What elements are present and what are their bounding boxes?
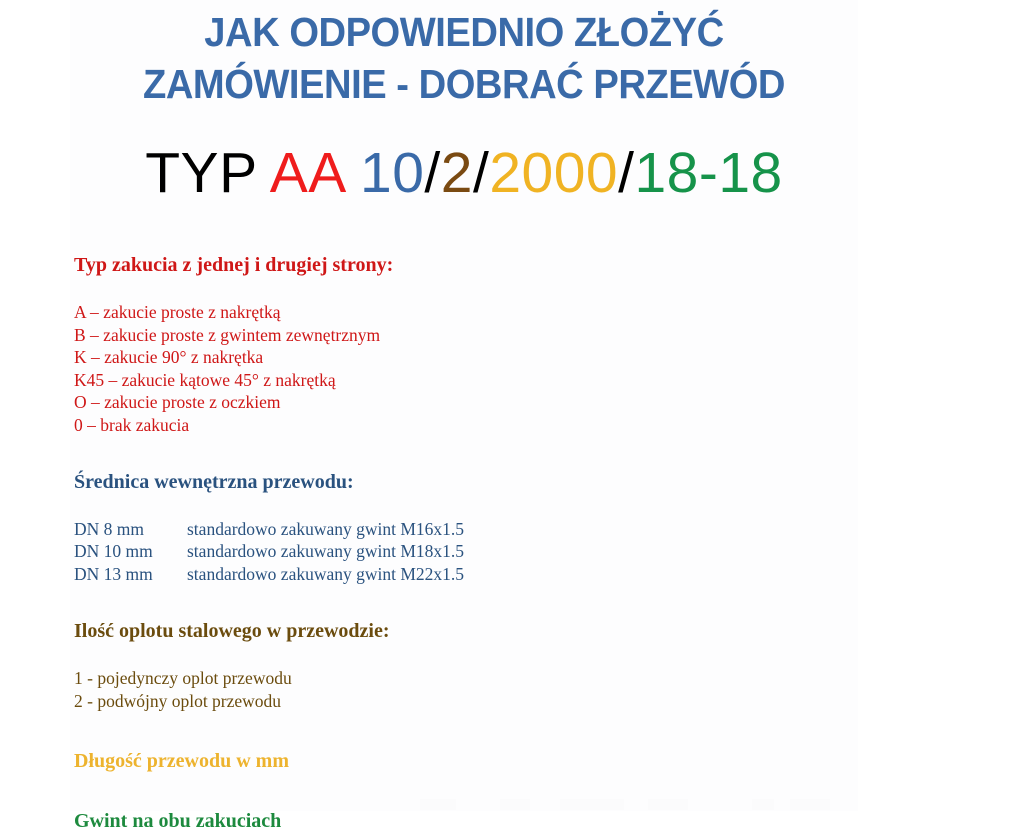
code-prefix: TYP [145,141,256,205]
clipped-bottom-row [0,797,1012,811]
legend-sections: Typ zakucia z jednej i drugiej strony: A… [74,252,774,834]
section-hose-length: Długość przewodu w mm [74,748,774,774]
list-item: 2 - podwójny oplot przewodu [74,690,774,713]
section-crimp-type-list: A – zakucie proste z nakrętką B – zakuci… [74,301,774,437]
section-crimp-type: Typ zakucia z jednej i drugiej strony: A… [74,252,774,437]
dn-label: DN 10 mm [74,540,187,563]
section-steel-braid-list: 1 - pojedynczy oplot przewodu 2 - podwój… [74,667,774,712]
page-title-line-1: JAK ODPOWIEDNIO ZŁOŻYĆ [98,6,831,58]
dn-label: DN 13 mm [74,563,187,586]
code-separator-3: / [618,141,634,205]
section-inner-diameter-list: DN 8 mmstandardowo zakuwany gwint M16x1.… [74,518,774,586]
list-item: DN 10 mmstandardowo zakuwany gwint M18x1… [74,540,774,563]
section-inner-diameter-heading: Średnica wewnętrzna przewodu: [74,469,774,495]
code-thread: 18-18 [634,141,782,205]
section-crimp-type-heading: Typ zakucia z jednej i drugiej strony: [74,252,774,278]
code-space-2 [344,141,360,205]
code-length-mm: 2000 [489,141,618,205]
code-braid-count: 2 [441,141,473,205]
list-item: DN 13 mmstandardowo zakuwany gwint M22x1… [74,563,774,586]
section-inner-diameter: Średnica wewnętrzna przewodu: DN 8 mmsta… [74,469,774,586]
list-item: B – zakucie proste z gwintem zewnętrznym [74,324,774,347]
list-item: K – zakucie 90° z nakrętka [74,346,774,369]
code-crimp-type: AA [270,141,344,205]
section-steel-braid-heading: Ilość oplotu stalowego w przewodzie: [74,618,774,644]
code-separator-2: / [473,141,489,205]
section-thread-both-ends-heading: Gwint na obu zakuciach [74,808,774,834]
section-hose-length-heading: Długość przewodu w mm [74,748,774,774]
list-item: 1 - pojedynczy oplot przewodu [74,667,774,690]
dn-value: standardowo zakuwany gwint M18x1.5 [187,541,464,561]
section-thread-both-ends: Gwint na obu zakuciach [74,808,774,834]
dn-value: standardowo zakuwany gwint M22x1.5 [187,564,464,584]
page-title-line-2: ZAMÓWIENIE - DOBRAĆ PRZEWÓD [98,58,831,110]
section-steel-braid: Ilość oplotu stalowego w przewodzie: 1 -… [74,618,774,712]
spacer [74,644,774,667]
code-separator-1: / [424,141,440,205]
slide-page: JAK ODPOWIEDNIO ZŁOŻYĆ ZAMÓWIENIE - DOBR… [0,0,1012,811]
code-space-1 [257,141,270,205]
list-item: 0 – brak zakucia [74,414,774,437]
spacer [74,495,774,518]
list-item: DN 8 mmstandardowo zakuwany gwint M16x1.… [74,518,774,541]
dn-label: DN 8 mm [74,518,187,541]
list-item: O – zakucie proste z oczkiem [74,391,774,414]
list-item: A – zakucie proste z nakrętką [74,301,774,324]
product-code-line: TYP AA 10/2/2000/18-18 [70,138,858,208]
dn-value: standardowo zakuwany gwint M16x1.5 [187,519,464,539]
page-title: JAK ODPOWIEDNIO ZŁOŻYĆ ZAMÓWIENIE - DOBR… [70,6,858,110]
spacer [74,278,774,301]
list-item: K45 – zakucie kątowe 45° z nakrętką [74,369,774,392]
code-inner-diameter: 10 [360,141,424,205]
